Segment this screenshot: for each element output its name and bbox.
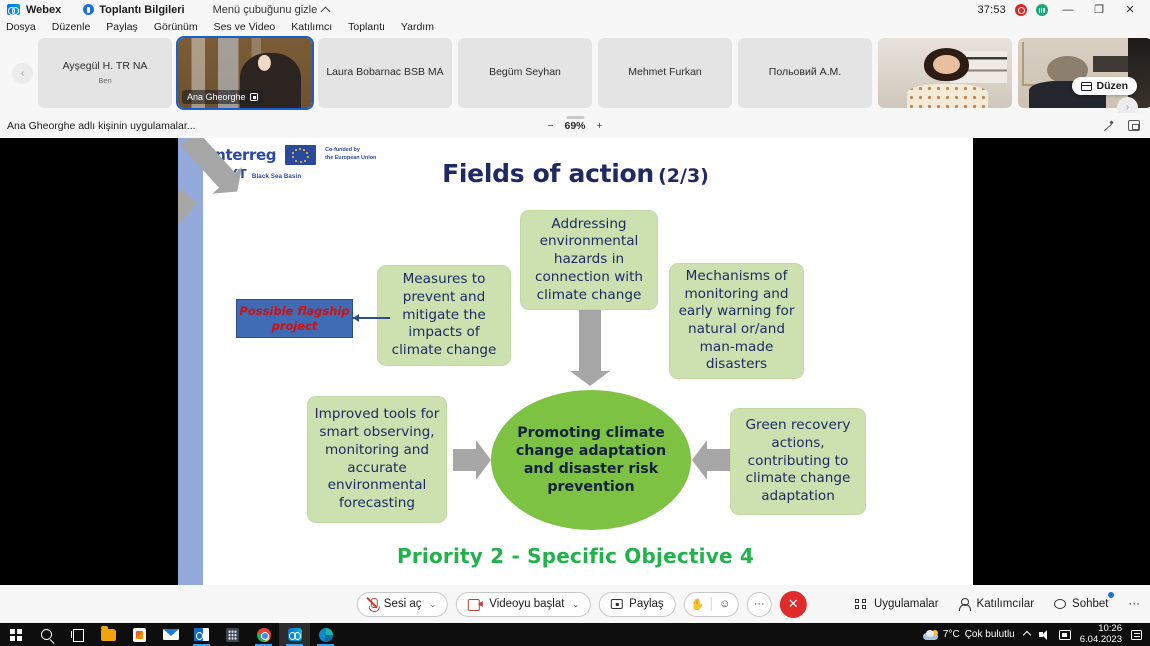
menu-item-gorunum[interactable]: Görünüm <box>154 21 198 33</box>
arrow-right-from-improved-tools <box>453 449 477 471</box>
slide-title-sub: (2/3) <box>658 165 709 187</box>
start-video-button[interactable]: Videoyu başlat ⌄ <box>456 592 591 617</box>
participant-name: Польовий А.М. <box>769 66 841 79</box>
center-objective-oval: Promoting climate change adaptation and … <box>491 390 691 530</box>
flagship-arrow <box>353 317 390 319</box>
field-box-measures: Measures to prevent and mitigate the imp… <box>377 265 511 366</box>
weather-widget[interactable]: 7°C Çok bulutlu <box>923 629 1015 640</box>
file-explorer-icon[interactable] <box>93 623 124 646</box>
chat-label: Sohbet <box>1072 598 1108 610</box>
emoji-icon[interactable]: ☺ <box>712 598 738 610</box>
field-box-mechanisms: Mechanisms of monitoring and early warni… <box>669 263 804 379</box>
hide-menubar-label: Menü çubuğunu gizle <box>213 4 318 16</box>
field-box-green-recovery: Green recovery actions, contributing to … <box>730 408 866 515</box>
chrome-icon[interactable] <box>248 623 279 646</box>
arrow-down-center <box>579 310 601 372</box>
share-header-bar: Ana Gheorghe adlı kişinin uygulamalar...… <box>0 113 1150 138</box>
network-quality-icon[interactable] <box>1036 4 1048 16</box>
clock-time: 10:26 <box>1098 623 1122 634</box>
flagship-project-box: Possible flagship project <box>236 299 353 338</box>
minimize-button[interactable]: — <box>1057 4 1079 16</box>
participant-filmstrip: ‹ Ayşegül H. TR NA Ben Ana Gheorghe Laur… <box>0 35 1150 111</box>
video-person-face <box>933 55 960 75</box>
participant-name: Laura Bobarnac BSB MA <box>326 66 443 79</box>
show-hidden-icons-icon[interactable] <box>1022 630 1030 638</box>
clock-date: 6.04.2023 <box>1080 634 1122 645</box>
participant-tile-polovyi[interactable]: Польовий А.М. <box>738 38 872 108</box>
search-icon[interactable] <box>31 623 62 646</box>
more-panels-button[interactable]: ··· <box>1129 598 1141 610</box>
microphone-muted-icon <box>369 598 378 611</box>
menu-bar: Dosya Düzenle Paylaş Görünüm Ses ve Vide… <box>0 19 1150 35</box>
participants-button[interactable]: Katılımcılar <box>959 598 1035 610</box>
layout-grid-icon <box>1081 82 1092 91</box>
shared-content-stage: Interreg Co-funded by the European Union <box>0 138 1150 585</box>
mail-icon[interactable] <box>155 623 186 646</box>
participant-tile-aysegul[interactable]: Ayşegül H. TR NA Ben <box>38 38 172 108</box>
slide-title-main: Fields of action <box>442 159 654 188</box>
cloud-icon <box>923 630 938 640</box>
windows-start-icon[interactable] <box>0 623 31 646</box>
reactions-group: ✋ ☺ <box>684 592 739 617</box>
microsoft-store-icon[interactable] <box>124 623 155 646</box>
slide-footer: Priority 2 - Specific Objective 4 <box>178 544 973 568</box>
field-box-hazards: Addressing environmental hazards in conn… <box>520 210 658 310</box>
chevron-down-icon[interactable]: ⌄ <box>430 600 437 609</box>
outlook-icon[interactable] <box>186 623 217 646</box>
notifications-icon[interactable] <box>1131 630 1142 640</box>
app-name: Webex <box>26 4 61 16</box>
participant-name: Begüm Seyhan <box>489 66 561 79</box>
chat-button[interactable]: Sohbet <box>1054 598 1108 610</box>
drag-handle[interactable] <box>566 116 584 119</box>
zoom-controls: − 69% + <box>547 120 602 132</box>
apps-label: Uygulamalar <box>874 598 939 610</box>
participant-name: Ayşegül H. TR NA Ben <box>63 60 148 86</box>
menu-item-katilimci[interactable]: Katılımcı <box>291 21 332 33</box>
webex-logo-icon <box>7 4 20 15</box>
chat-bubble-icon <box>1054 599 1066 609</box>
share-label: Paylaş <box>629 598 664 610</box>
edge-icon[interactable] <box>310 623 341 646</box>
webex-icon[interactable] <box>279 623 310 646</box>
slide-left-stripe-white <box>203 138 212 585</box>
mute-audio-button[interactable]: Sesi aç ⌄ <box>357 592 448 617</box>
title-bar-left: Webex Toplantı Bilgileri Menü çubuğunu g… <box>0 4 329 16</box>
chevron-down-icon[interactable]: ⌄ <box>572 600 579 609</box>
popout-icon[interactable] <box>1128 120 1140 131</box>
apps-button[interactable]: Uygulamalar <box>855 598 939 610</box>
apps-icon <box>855 599 868 610</box>
participants-label: Katılımcılar <box>977 598 1035 610</box>
audio-label: Sesi aç <box>384 598 422 610</box>
menu-item-paylas[interactable]: Paylaş <box>106 21 138 33</box>
share-button[interactable]: Paylaş <box>599 592 676 617</box>
weather-temperature: 7°C <box>943 629 960 640</box>
participants-icon <box>959 598 971 610</box>
network-icon[interactable] <box>1059 630 1071 640</box>
layout-button[interactable]: Düzen <box>1072 77 1138 95</box>
task-view-icon[interactable] <box>62 623 93 646</box>
title-bar: Webex Toplantı Bilgileri Menü çubuğunu g… <box>0 0 1150 19</box>
share-tools <box>1102 120 1150 132</box>
participant-tile-ana-gheorghe[interactable]: Ana Gheorghe <box>178 38 312 108</box>
menu-item-ses-ve-video[interactable]: Ses ve Video <box>214 21 276 33</box>
restore-button[interactable]: ❐ <box>1088 3 1110 16</box>
menu-item-toplanti[interactable]: Toplantı <box>348 21 385 33</box>
webex-meeting-window: Webex Toplantı Bilgileri Menü çubuğunu g… <box>0 0 1150 646</box>
volume-icon[interactable] <box>1039 630 1050 640</box>
eu-line-1: Co-funded by <box>325 147 360 153</box>
windows-taskbar: 7°C Çok bulutlu 10:26 6.04.2023 <box>0 623 1150 646</box>
participant-tiles: Ayşegül H. TR NA Ben Ana Gheorghe Laura … <box>38 38 1150 108</box>
slide-title: Fields of action (2/3) <box>178 159 973 188</box>
menu-item-duzenle[interactable]: Düzenle <box>52 21 91 33</box>
participant-tile-video-7[interactable] <box>878 38 1012 108</box>
share-screen-icon <box>611 599 623 609</box>
meeting-info-button[interactable]: Toplantı Bilgileri <box>83 4 184 16</box>
end-meeting-button[interactable]: ✕ <box>780 591 807 618</box>
presentation-slide[interactable]: Interreg Co-funded by the European Union <box>178 138 973 585</box>
meeting-timer: 37:53 <box>977 4 1006 16</box>
raise-hand-icon[interactable]: ✋ <box>685 598 711 611</box>
zoom-level: 69% <box>564 120 585 132</box>
zoom-out-button[interactable]: − <box>547 120 553 132</box>
field-box-improved-tools: Improved tools for smart observing, moni… <box>307 396 447 523</box>
chat-unread-badge <box>1108 592 1114 598</box>
hide-menubar-button[interactable]: Menü çubuğunu gizle <box>213 4 330 16</box>
zoom-in-button[interactable]: + <box>597 120 603 132</box>
share-title: Ana Gheorghe adlı kişinin uygulamalar... <box>0 120 196 132</box>
annotate-pen-icon[interactable] <box>1102 120 1114 132</box>
participant-tile-begum-seyhan[interactable]: Begüm Seyhan <box>458 38 592 108</box>
record-icon[interactable] <box>1015 4 1027 16</box>
weather-condition: Çok bulutlu <box>965 629 1015 640</box>
meeting-control-bar: Sesi aç ⌄ Videoyu başlat ⌄ Paylaş ✋ ☺ ··… <box>0 585 1150 623</box>
chevron-up-icon <box>321 7 331 17</box>
participant-name-badge: Ana Gheorghe <box>182 90 263 104</box>
clock[interactable]: 10:26 6.04.2023 <box>1080 624 1122 646</box>
more-options-button[interactable]: ··· <box>747 592 772 617</box>
share-indicator-icon <box>250 93 258 101</box>
close-button[interactable]: ✕ <box>1119 3 1141 16</box>
participant-self-label: Ben <box>63 76 148 85</box>
camera-off-icon <box>468 599 483 609</box>
layout-button-label: Düzen <box>1097 80 1129 92</box>
participant-tile-mehmet-furkan[interactable]: Mehmet Furkan <box>598 38 732 108</box>
title-bar-right: 37:53 — ❐ ✕ <box>977 3 1150 16</box>
meeting-info-label: Toplantı Bilgileri <box>99 4 184 16</box>
filmstrip-prev-button[interactable]: ‹ <box>12 63 33 84</box>
info-icon <box>83 4 94 15</box>
secondary-controls: Uygulamalar Katılımcılar Sohbet ··· <box>855 598 1140 610</box>
menu-item-yardim[interactable]: Yardım <box>401 21 434 33</box>
participant-tile-laura-bobarnac[interactable]: Laura Bobarnac BSB MA <box>318 38 452 108</box>
calculator-icon[interactable] <box>217 623 248 646</box>
arrow-left-from-green-recovery <box>706 449 730 471</box>
video-label: Videoyu başlat <box>489 598 564 610</box>
video-person-pattern <box>907 84 987 108</box>
taskbar-icons <box>0 623 341 646</box>
primary-controls: Sesi aç ⌄ Videoyu başlat ⌄ Paylaş ✋ ☺ ··… <box>357 591 807 618</box>
system-tray: 7°C Çok bulutlu 10:26 6.04.2023 <box>923 624 1150 646</box>
participant-name: Mehmet Furkan <box>628 66 702 79</box>
menu-item-dosya[interactable]: Dosya <box>6 21 36 33</box>
